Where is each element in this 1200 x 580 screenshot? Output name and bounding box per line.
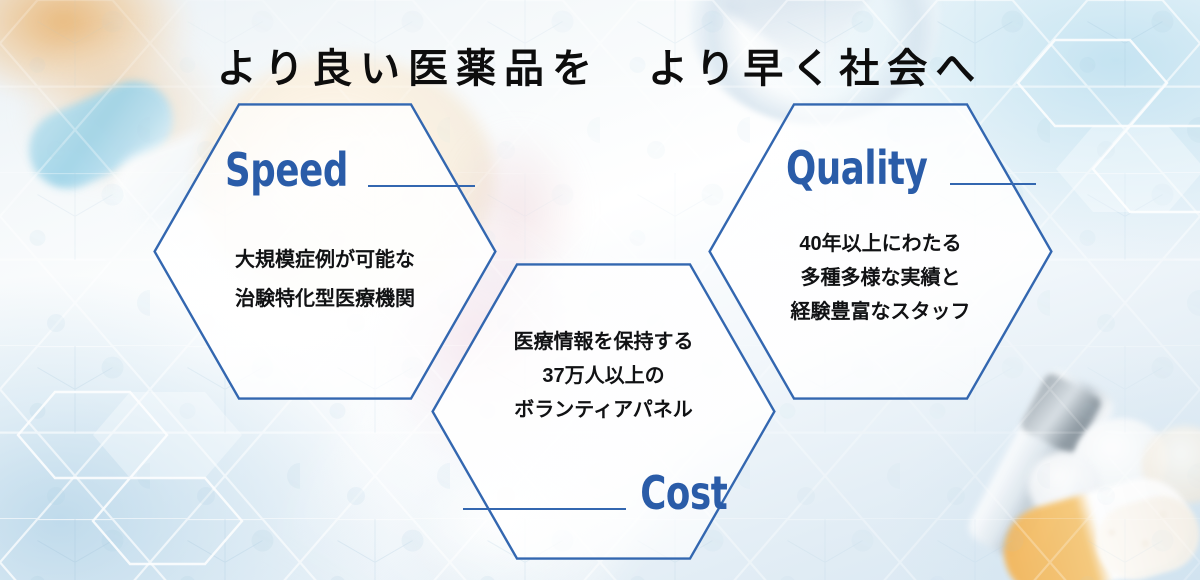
page-title: より良い医薬品を より早く社会へ <box>0 36 1200 94</box>
hexagon-card-cost[interactable]: 医療情報を保持する 37万人以上の ボランティアパネル Cost <box>431 263 776 560</box>
hero-banner: より良い医薬品を より早く社会へ Speed 大規模 <box>0 0 1200 580</box>
white-tablet-3-icon <box>1142 426 1200 504</box>
white-tablet-2-icon <box>1028 452 1100 518</box>
capsule-beads-icon <box>1088 487 1200 580</box>
amber-capsule-icon <box>993 468 1200 580</box>
white-tablet-1-icon <box>1074 418 1168 502</box>
